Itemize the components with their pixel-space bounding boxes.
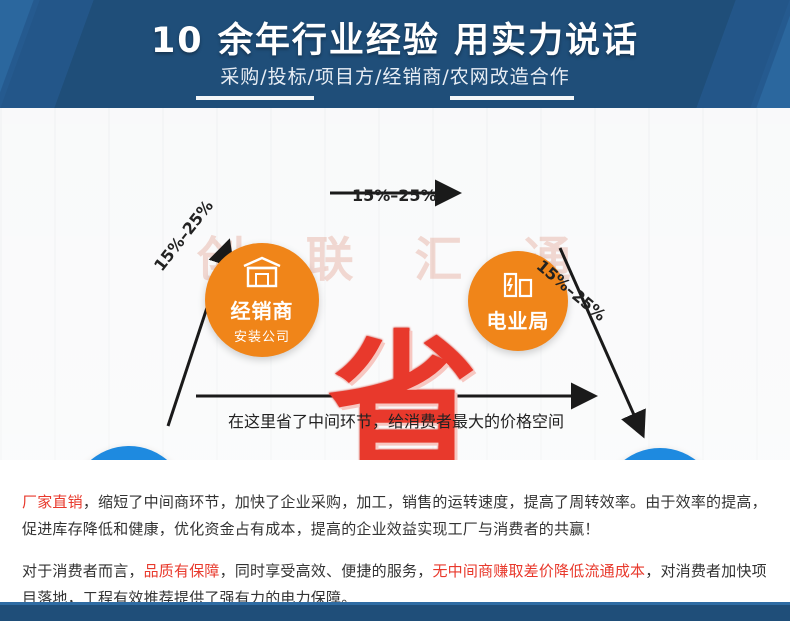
label-direct-channel: 在这里省了中间环节，给消费者最大的价格空间 xyxy=(196,408,596,432)
highlight-factory-direct: 厂家直销 xyxy=(22,493,83,511)
header-subtitle: 采购/投标/项目方/经销商/农网改造合作 xyxy=(0,62,790,89)
description-block: 厂家直销，缩短了中间商环节，加快了企业采购，加工，销售的运转速度，提高了周转效率… xyxy=(0,460,790,605)
page-root: 10 余年行业经验 用实力说话 采购/投标/项目方/经销商/农网改造合作 创 联… xyxy=(0,0,790,621)
description-paragraph-1-rest: ，缩短了中间商环节，加快了企业采购，加工，销售的运转速度，提高了周转效率。由于效… xyxy=(22,493,767,538)
highlight-quality-guarantee: 品质有保障 xyxy=(144,562,220,580)
page-footer xyxy=(0,605,790,621)
description-paragraph-2-a: 对于消费者而言， xyxy=(22,562,144,580)
page-header: 10 余年行业经验 用实力说话 采购/投标/项目方/经销商/农网改造合作 xyxy=(0,0,790,108)
header-underline-right xyxy=(450,96,574,100)
highlight-no-middleman: 无中间商赚取差价降低流通成本 xyxy=(432,562,645,580)
header-underline-left xyxy=(196,96,314,100)
header-title: 10 余年行业经验 用实力说话 xyxy=(0,12,790,63)
description-paragraph-1: 厂家直销，缩短了中间商环节，加快了企业采购，加工，销售的运转速度，提高了周转效率… xyxy=(22,489,768,543)
center-saving-character: 省 xyxy=(318,330,488,460)
shop-icon xyxy=(240,256,284,292)
factory-icon xyxy=(502,268,534,302)
node-dealer[interactable]: 经销商 安装公司 xyxy=(205,243,319,357)
node-power-bureau-title: 电业局 xyxy=(487,305,550,334)
description-paragraph-2-b: ，同时享受高效、便捷的服务， xyxy=(220,562,433,580)
diagram-stage: 创 联 汇 通 省 xyxy=(0,108,790,460)
node-dealer-title: 经销商 xyxy=(231,295,294,324)
node-dealer-subtitle: 安装公司 xyxy=(234,326,290,345)
label-dealer-to-power: 15%–25% xyxy=(352,186,437,205)
